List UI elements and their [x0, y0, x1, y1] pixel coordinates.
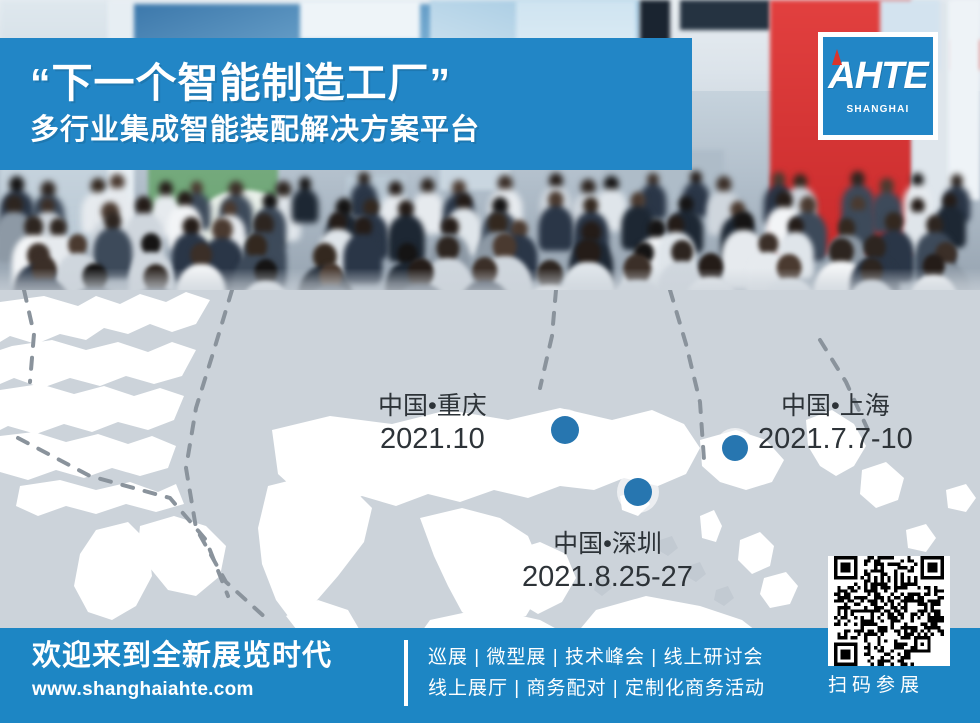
- city-date-shenzhen: 2021.8.25-27: [522, 560, 693, 594]
- ahte-logo[interactable]: AHTE SHANGHAI: [818, 32, 938, 140]
- qr-caption: 扫码参展: [828, 670, 950, 697]
- city-name-shanghai: 中国•上海: [758, 392, 913, 422]
- city-label-chongqing: 中国•重庆 2021.10: [378, 392, 487, 456]
- booth-panel: [300, 0, 420, 40]
- ahte-logo-wordmark: AHTE: [828, 57, 927, 95]
- city-name-shenzhen: 中国•深圳: [522, 530, 693, 560]
- headline-secondary: 多行业集成智能装配解决方案平台: [30, 113, 692, 148]
- city-label-shanghai: 中国•上海 2021.7.7-10: [758, 392, 913, 456]
- services-line-1: 巡展 | 微型展 | 技术峰会 | 线上研讨会: [428, 642, 765, 673]
- ahte-logo-subtitle: SHANGHAI: [847, 104, 910, 115]
- red-triangle-accent-icon: [832, 49, 842, 65]
- city-label-shenzhen: 中国•深圳 2021.8.25-27: [522, 530, 693, 594]
- services-line-2: 线上展厅 | 商务配对 | 定制化商务活动: [428, 673, 765, 704]
- bottom-bar-left: 欢迎来到全新展览时代 www.shanghaiahte.com: [32, 640, 332, 701]
- headline-primary: “下一个智能制造工厂”: [30, 61, 692, 107]
- city-dot-shenzhen[interactable]: [624, 478, 652, 506]
- website-url[interactable]: www.shanghaiahte.com: [32, 679, 332, 701]
- city-date-shanghai: 2021.7.7-10: [758, 422, 913, 456]
- qr-code-block[interactable]: [828, 556, 950, 666]
- city-dot-chongqing[interactable]: [551, 416, 579, 444]
- crowd-person: [292, 177, 319, 224]
- bottom-bar-right: 巡展 | 微型展 | 技术峰会 | 线上研讨会 线上展厅 | 商务配对 | 定制…: [428, 642, 765, 705]
- city-name-chongqing: 中国•重庆: [378, 392, 487, 422]
- booth-panel: [680, 0, 770, 30]
- qr-code-icon[interactable]: [828, 556, 950, 666]
- vertical-divider: [404, 640, 408, 706]
- booth-panel: [948, 0, 980, 200]
- headline-banner: “下一个智能制造工厂” 多行业集成智能装配解决方案平台: [0, 38, 692, 170]
- crowd-person-body: [292, 189, 319, 224]
- city-date-chongqing: 2021.10: [378, 422, 487, 456]
- slogan-text: 欢迎来到全新展览时代: [32, 640, 332, 673]
- city-dot-shanghai[interactable]: [722, 435, 748, 461]
- promo-poster: “下一个智能制造工厂” 多行业集成智能装配解决方案平台 AHTE SHANGHA…: [0, 0, 980, 723]
